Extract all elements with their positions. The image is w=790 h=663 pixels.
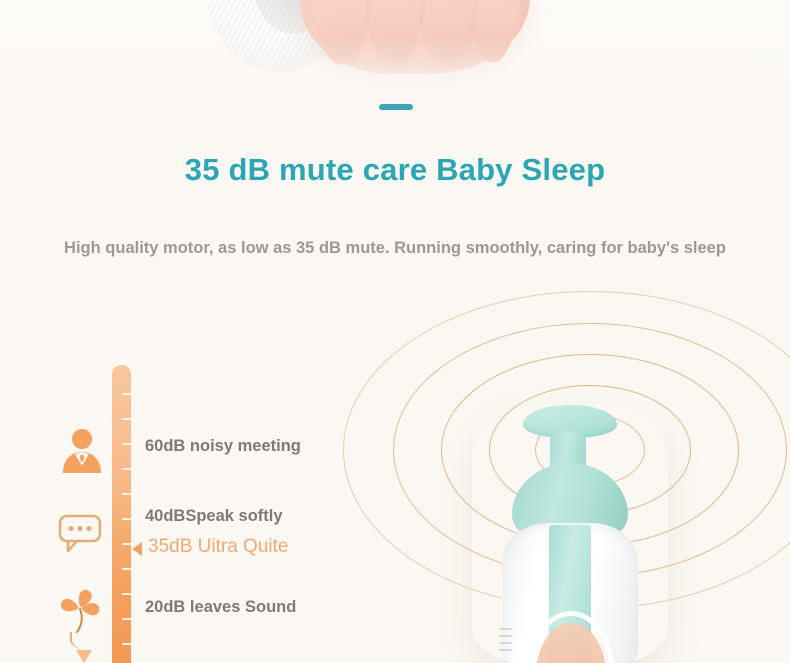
product-tick-1 xyxy=(499,628,512,630)
scale-tick xyxy=(122,443,131,445)
scale-label-35db-highlight: 35dB Uitra Quite xyxy=(148,536,288,558)
page-title: 35 dB mute care Baby Sleep xyxy=(0,152,790,188)
product-level-ticks xyxy=(499,628,517,658)
scale-tick xyxy=(122,393,131,395)
scale-tick xyxy=(122,568,131,570)
clover-icon xyxy=(52,583,108,639)
speech-bubble-icon xyxy=(52,503,108,559)
person-icon xyxy=(54,423,110,479)
decibel-scale-bar xyxy=(112,365,131,663)
scale-tick xyxy=(122,543,131,545)
scale-tick xyxy=(122,418,131,420)
clover-stem-tail xyxy=(70,632,98,650)
promo-page: 35 dB mute care Baby Sleep High quality … xyxy=(0,0,790,663)
scale-tick xyxy=(122,493,131,495)
scale-tick xyxy=(122,593,131,595)
product-tick-4 xyxy=(499,649,512,651)
scale-tick xyxy=(122,618,131,620)
scale-tick xyxy=(122,518,131,520)
product-tick-3 xyxy=(499,642,512,644)
scale-tick xyxy=(122,643,131,645)
section-divider-dash xyxy=(379,104,413,110)
product-tick-2 xyxy=(499,635,512,637)
scale-label-40db: 40dBSpeak softly xyxy=(145,507,283,526)
scale-tick xyxy=(122,468,131,470)
hero-image-baby-hand xyxy=(0,0,790,96)
page-subtitle: High quality motor, as low as 35 dB mute… xyxy=(0,239,790,258)
hero-bottom-fade xyxy=(0,0,790,96)
marker-triangle-icon xyxy=(132,542,142,556)
bottom-arrow-icon xyxy=(76,650,92,663)
product-image-baby-nail-trimmer xyxy=(470,405,670,663)
scale-label-60db: 60dB noisy meeting xyxy=(145,437,301,456)
scale-label-20db: 20dB leaves Sound xyxy=(145,598,296,617)
